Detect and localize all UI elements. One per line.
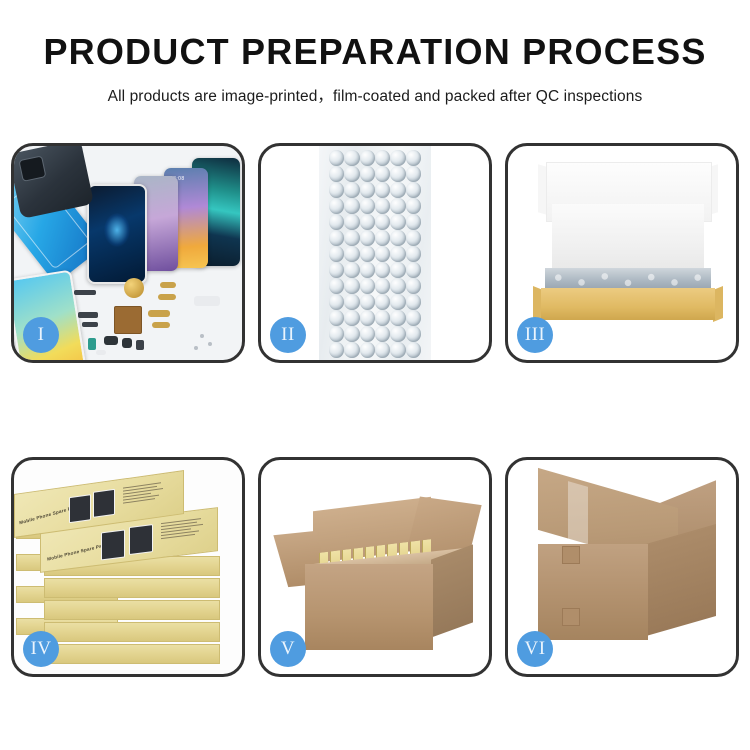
carton-tab-lower [562, 608, 580, 626]
carton-side-wall [431, 544, 473, 637]
phone-back-chassis [14, 146, 94, 219]
product-preparation-infographic: PRODUCT PREPARATION PROCESS All products… [0, 0, 750, 750]
bubble-pouch [319, 146, 431, 360]
carton-tab-upper [562, 546, 580, 564]
step-badge-4: IV [23, 631, 59, 667]
step-badge-3: III [517, 317, 553, 353]
steps-grid: I [11, 143, 739, 735]
inner-box-front-wall [541, 288, 715, 320]
step-badge-5: V [270, 631, 306, 667]
sealed-carton-side-wall [646, 524, 716, 636]
bubble-grid [329, 150, 421, 360]
step-badge-2: II [270, 317, 306, 353]
black-front-glass-panel [87, 184, 147, 284]
step-panel-inner-box-packing: III [505, 143, 739, 363]
step-badge-6: VI [517, 631, 553, 667]
step-panel-bubble-wrap-pouch: II [258, 143, 492, 363]
carton-front-wall [305, 564, 433, 650]
step-panel-carton-filling: V [258, 457, 492, 677]
step-panel-products-and-parts: I [11, 143, 245, 363]
sealed-carton-front-wall [538, 544, 648, 640]
step-panel-stacked-retail-boxes: Mobile Phone Spare Parts Mobile Phone Sp… [11, 457, 245, 677]
step-badge-1: I [23, 317, 59, 353]
inner-box-foam-sheet [552, 204, 704, 274]
page-subtitle: All products are image-printed，film-coat… [0, 84, 750, 106]
retail-box-label: Mobile Phone Spare Parts [47, 542, 109, 562]
small-components [74, 276, 224, 360]
step-panel-sealed-carton: VI [505, 457, 739, 677]
header: PRODUCT PREPARATION PROCESS All products… [0, 0, 750, 106]
page-title: PRODUCT PREPARATION PROCESS [0, 34, 750, 70]
